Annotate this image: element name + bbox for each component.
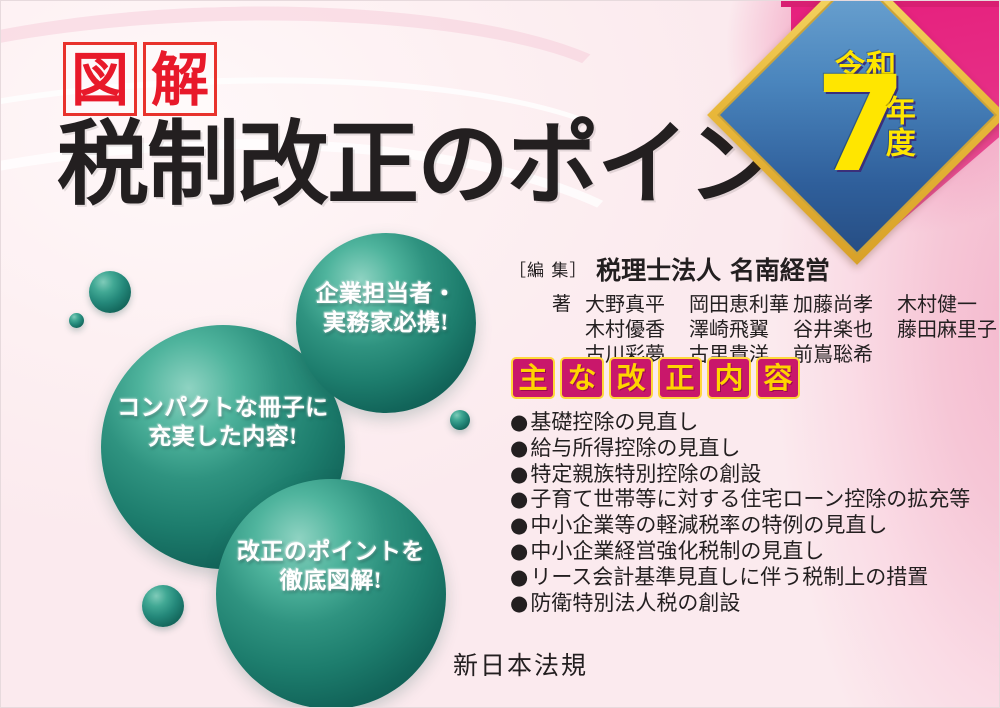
bullet-marker-icon: ●	[510, 539, 528, 563]
list-item-label: 中小企業経営強化税制の見直し	[530, 539, 824, 563]
editor-bracket-close: ］	[569, 261, 587, 281]
author-name: 加藤尚孝	[793, 292, 897, 317]
bullet-marker-icon: ●	[510, 436, 528, 460]
list-item: ●防衛特別法人税の創設	[510, 591, 970, 617]
list-item: ●子育て世帯等に対する住宅ローン控除の拡充等	[510, 487, 970, 513]
list-item: ●リース会計基準見直しに伴う税制上の措置	[510, 565, 970, 591]
author-name: 大野真平	[585, 292, 689, 317]
decorative-sphere-tiny-left	[69, 313, 84, 328]
book-cover: コンパクトな冊子に 充実した内容! 改正のポイントを 徹底図解! 企業担当者・ …	[0, 0, 1000, 708]
list-item: ●中小企業経営強化税制の見直し	[510, 539, 970, 565]
list-item-label: 子育て世帯等に対する住宅ローン控除の拡充等	[530, 487, 970, 511]
main-revisions-header: 主 な 改 正 内 容	[511, 357, 800, 399]
decorative-sphere-small-lower-left	[142, 585, 184, 627]
decorative-sphere-small-upper-left	[89, 271, 131, 313]
authors-grid: 大野真平 岡田恵利華 加藤尚孝 木村健一 木村優香 澤崎飛翼 谷井楽也 藤田麻里…	[585, 292, 1000, 367]
author-name	[897, 342, 1000, 367]
author-name: 藤田麻里子	[897, 317, 1000, 342]
diamond-content: 令和 7 年度	[751, 9, 963, 221]
bullet-marker-icon: ●	[510, 513, 528, 537]
bullet-marker-icon: ●	[510, 462, 528, 486]
author-name: 前嶌聡希	[793, 342, 897, 367]
zukai-badge-char-2: 解	[143, 42, 217, 116]
decorative-sphere-tiny-center	[450, 410, 470, 430]
main-revisions-header-char-2: な	[560, 357, 604, 399]
editor-line: ［編 集］ 税理士法人 名南経営	[509, 257, 1000, 285]
editor-bracket-open: ［	[509, 261, 527, 281]
list-item-label: 特定親族特別控除の創設	[530, 462, 761, 486]
main-revisions-header-char-3: 改	[609, 357, 653, 399]
editor-name: 税理士法人 名南経営	[596, 256, 830, 285]
author-name: 木村健一	[897, 292, 1000, 317]
era-nendo-label: 年度	[881, 95, 913, 159]
feature-sphere-corporate-staff: 企業担当者・ 実務家必携!	[296, 233, 476, 413]
author-name: 木村優香	[585, 317, 689, 342]
bullet-marker-icon: ●	[510, 487, 528, 511]
bullet-marker-icon: ●	[510, 565, 528, 589]
zukai-badge-char-1: 図	[63, 42, 137, 116]
list-item-label: リース会計基準見直しに伴う税制上の措置	[530, 565, 928, 589]
publisher-name: 新日本法規	[453, 646, 588, 682]
feature-sphere-corporate-staff-label: 企業担当者・ 実務家必携!	[296, 279, 476, 338]
bullet-marker-icon: ●	[510, 410, 528, 434]
zukai-badge: 図 解	[63, 42, 217, 116]
list-item: ●特定親族特別控除の創設	[510, 462, 970, 488]
main-revisions-header-char-1: 主	[511, 357, 555, 399]
list-item-label: 防衛特別法人税の創設	[530, 591, 740, 615]
bullet-marker-icon: ●	[510, 591, 528, 615]
authors-label: 著	[509, 292, 585, 317]
author-name: 谷井楽也	[793, 317, 897, 342]
author-name: 岡田恵利華	[689, 292, 793, 317]
editor-label: 編 集	[527, 261, 569, 281]
author-name: 澤崎飛翼	[689, 317, 793, 342]
main-revisions-header-char-4: 正	[658, 357, 702, 399]
authors-block: 著 大野真平 岡田恵利華 加藤尚孝 木村健一 木村優香 澤崎飛翼 谷井楽也 藤田…	[509, 292, 1000, 367]
list-item-label: 基礎控除の見直し	[530, 410, 698, 434]
main-revisions-header-char-5: 内	[707, 357, 751, 399]
feature-sphere-compact-content-label: コンパクトな冊子に 充実した内容!	[101, 393, 345, 452]
feature-sphere-thorough-illustration-label: 改正のポイントを 徹底図解!	[216, 537, 446, 596]
list-item: ●中小企業等の軽減税率の特例の見直し	[510, 513, 970, 539]
main-revisions-header-char-6: 容	[756, 357, 800, 399]
list-item-label: 給与所得控除の見直し	[530, 436, 740, 460]
feature-sphere-thorough-illustration: 改正のポイントを 徹底図解!	[216, 479, 446, 708]
credits-block: ［編 集］ 税理士法人 名南経営 著 大野真平 岡田恵利華 加藤尚孝 木村健一 …	[509, 257, 1000, 367]
list-item: ●基礎控除の見直し	[510, 410, 970, 436]
list-item-label: 中小企業等の軽減税率の特例の見直し	[530, 513, 887, 537]
list-item: ●給与所得控除の見直し	[510, 436, 970, 462]
revisions-list: ●基礎控除の見直し ●給与所得控除の見直し ●特定親族特別控除の創設 ●子育て世…	[510, 410, 970, 616]
